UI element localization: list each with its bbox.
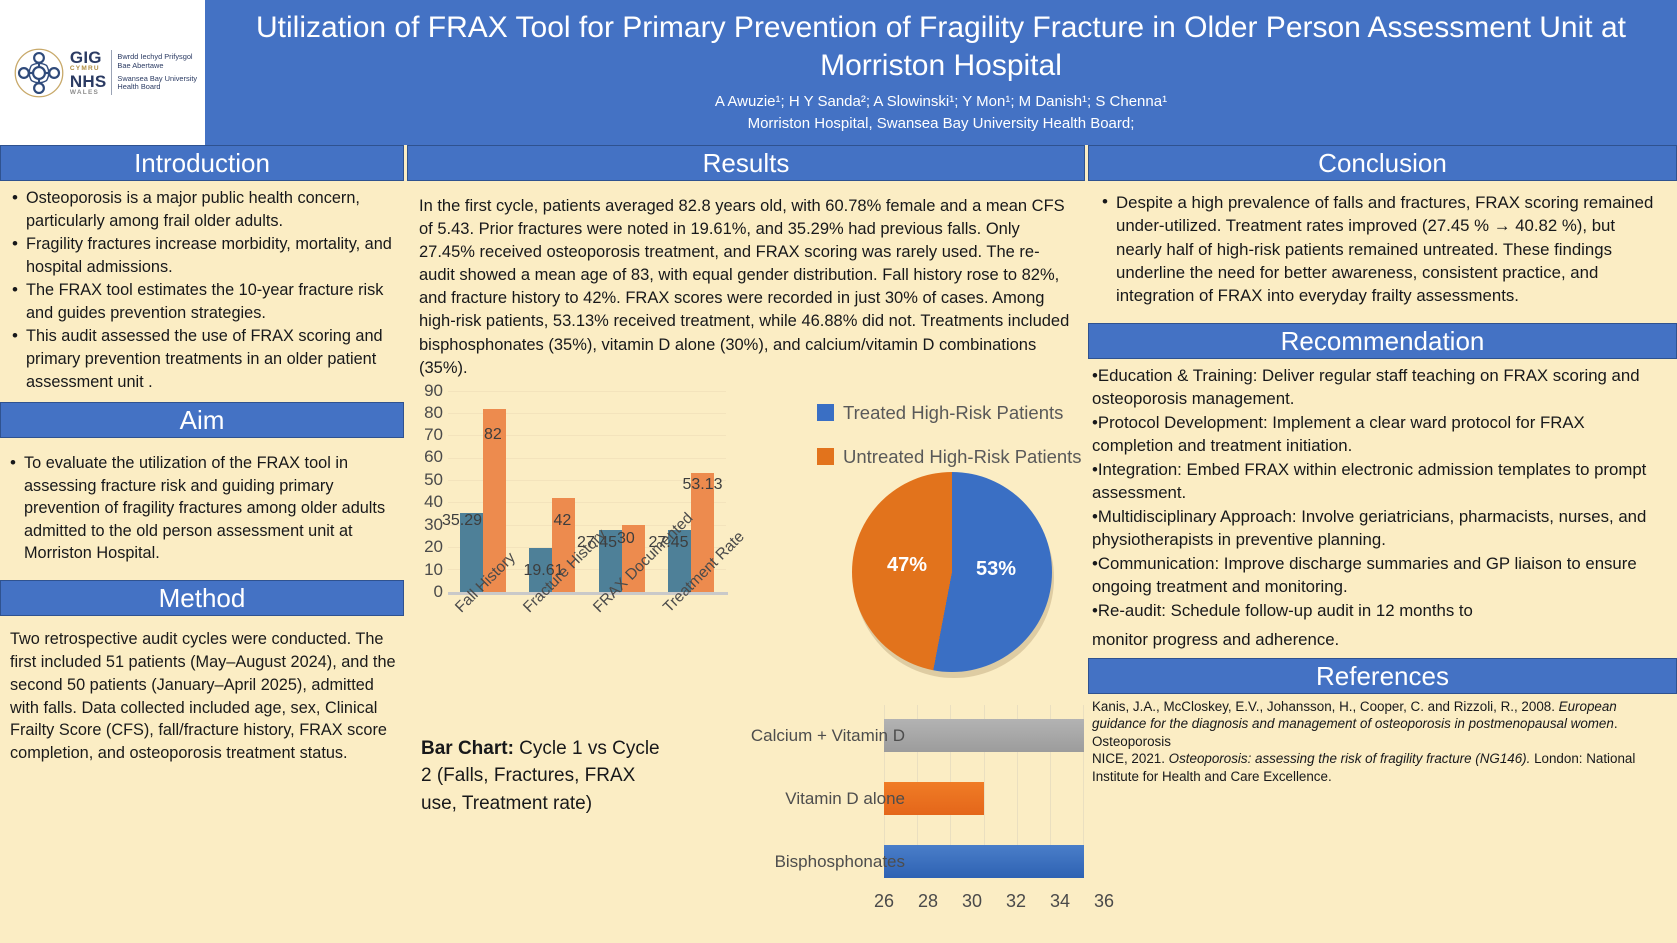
logo-welsh-name: Bwrdd Iechyd Prifysgol Bae Abertawe [117,53,197,70]
y-tick: 20 [424,537,443,557]
hbar-x-tick: 30 [962,891,982,912]
hbar-bisphosphonates [884,845,1084,878]
section-heading-conclusion: Conclusion [1088,145,1677,181]
y-tick: 80 [424,403,443,423]
results-body: In the first cycle, patients averaged 82… [407,181,1085,380]
list-item: Despite a high prevalence of falls and f… [1096,191,1663,308]
logo-divider [111,50,112,95]
page-title: Utilization of FRAX Tool for Primary Pre… [241,9,1641,86]
poster-header: GIG CYMRU NHS WALES Bwrdd Iechyd Prifysg… [0,0,1677,145]
title-block: Utilization of FRAX Tool for Primary Pre… [205,0,1677,145]
list-item: Osteoporosis is a major public health co… [6,187,394,232]
recommendation-item: •Communication: Improve discharge summar… [1092,552,1667,599]
logo-wales-text: WALES [70,90,107,97]
y-tick: 90 [424,381,443,401]
recommendation-closing: monitor progress and adherence. [1092,628,1667,652]
hbar-x-tick: 32 [1006,891,1026,912]
affiliation: Morriston Hospital, Swansea Bay Universi… [748,115,1135,132]
bar-chart-caption: Bar Chart: Cycle 1 vs Cycle 2 (Falls, Fr… [421,735,671,818]
hbar-category-label: Vitamin D alone [785,789,905,809]
introduction-body: Osteoporosis is a major public health co… [0,181,404,393]
list-item: The FRAX tool estimates the 10-year frac… [6,279,394,324]
pie-disc [852,472,1052,672]
poster-root: GIG CYMRU NHS WALES Bwrdd Iechyd Prifysg… [0,0,1677,943]
recommendation-item: •Protocol Development: Implement a clear… [1092,411,1667,458]
caption-label: Bar Chart: [421,738,514,759]
legend-label: Treated High-Risk Patients [843,402,1063,424]
pie-slice-label-untreated: 47% [887,554,927,577]
logo-english-name: Swansea Bay University Health Board [117,75,197,92]
hbar-x-tick: 34 [1050,891,1070,912]
y-tick: 0 [434,582,443,602]
high-risk-treatment-pie-chart: 53% 47% [852,472,1052,672]
pie-slice-label-treated: 53% [976,558,1016,581]
recommendation-item: •Integration: Embed FRAX within electron… [1092,458,1667,505]
legend-item-treated: Treated High-Risk Patients [817,402,1087,424]
reference-entry: NICE, 2021. Osteoporosis: assessing the … [1092,750,1669,785]
bar-value-label: 30 [617,530,635,548]
legend-label: Untreated High-Risk Patients [843,446,1082,468]
y-tick: 40 [424,492,443,512]
list-item: This audit assessed the use of FRAX scor… [6,325,394,393]
conclusion-body: Despite a high prevalence of falls and f… [1088,181,1677,308]
y-tick: 70 [424,425,443,445]
section-heading-introduction: Introduction [0,145,404,181]
recommendation-item: •Education & Training: Deliver regular s… [1092,364,1667,411]
legend-swatch-icon [817,404,834,421]
hbar-calcium-vitd [884,719,1084,752]
author-list: A Awuzie¹; H Y Sanda²; A Slowinski¹; Y M… [715,93,1167,110]
section-heading-recommendation: Recommendation [1088,323,1677,359]
recommendation-item: •Multidisciplinary Approach: Involve ger… [1092,505,1667,552]
aim-body: To evaluate the utilization of the FRAX … [0,438,404,565]
cycle-comparison-bar-chart: 90 80 70 60 50 40 30 20 10 0 [413,385,743,715]
legend-swatch-icon [817,448,834,465]
y-tick: 60 [424,447,443,467]
section-heading-references: References [1088,658,1677,694]
hbar-category-label: Calcium + Vitamin D [751,726,905,746]
logo-nhs-text: NHS [70,73,107,90]
section-heading-method: Method [0,580,404,616]
references-body: Kanis, J.A., McCloskey, E.V., Johansson,… [1088,694,1677,785]
section-heading-aim: Aim [0,402,404,438]
hbar-category-label: Bisphosphonates [775,852,905,872]
left-column: Introduction Osteoporosis is a major pub… [0,145,404,943]
right-column: Conclusion Despite a high prevalence of … [1088,145,1677,943]
y-tick: 10 [424,560,443,580]
bar-value-label: 35.29 [442,512,482,530]
bar-value-label: 82 [484,426,502,444]
method-body: Two retrospective audit cycles were cond… [0,616,404,765]
list-item: To evaluate the utilization of the FRAX … [4,452,398,565]
reference-authors: Kanis, J.A., McCloskey, E.V., Johansson,… [1092,699,1559,714]
hbar-x-tick: 28 [918,891,938,912]
charts-area: 90 80 70 60 50 40 30 20 10 0 [407,380,1091,935]
celtic-knot-icon [12,46,66,100]
bar-chart-x-axis: Fall History Fracture History FRAX Docum… [448,600,728,710]
recommendation-body: •Education & Training: Deliver regular s… [1088,359,1677,652]
middle-column: Results In the first cycle, patients ave… [404,145,1088,943]
reference-title: Osteoporosis: assessing the risk of frag… [1169,751,1531,766]
bar-chart-y-axis: 90 80 70 60 50 40 30 20 10 0 [413,385,446,598]
list-item: Fragility fractures increase morbidity, … [6,233,394,278]
legend-item-untreated: Untreated High-Risk Patients [817,446,1087,468]
reference-entry: Kanis, J.A., McCloskey, E.V., Johansson,… [1092,698,1669,750]
treatment-type-bar-chart: Calcium + Vitamin D Vitamin D alone Bisp… [712,705,1087,930]
bar-value-label: 53.13 [683,476,723,494]
reference-authors: NICE, 2021. [1092,751,1169,766]
y-tick: 30 [424,515,443,535]
logo-gig-text: GIG [70,49,107,66]
recommendation-item: •Re-audit: Schedule follow-up audit in 1… [1092,599,1667,623]
y-tick: 50 [424,470,443,490]
nhs-wales-logo: GIG CYMRU NHS WALES Bwrdd Iechyd Prifysg… [0,0,205,145]
hbar-x-tick: 26 [874,891,894,912]
bar-value-label: 42 [554,512,572,530]
section-heading-results: Results [407,145,1085,181]
